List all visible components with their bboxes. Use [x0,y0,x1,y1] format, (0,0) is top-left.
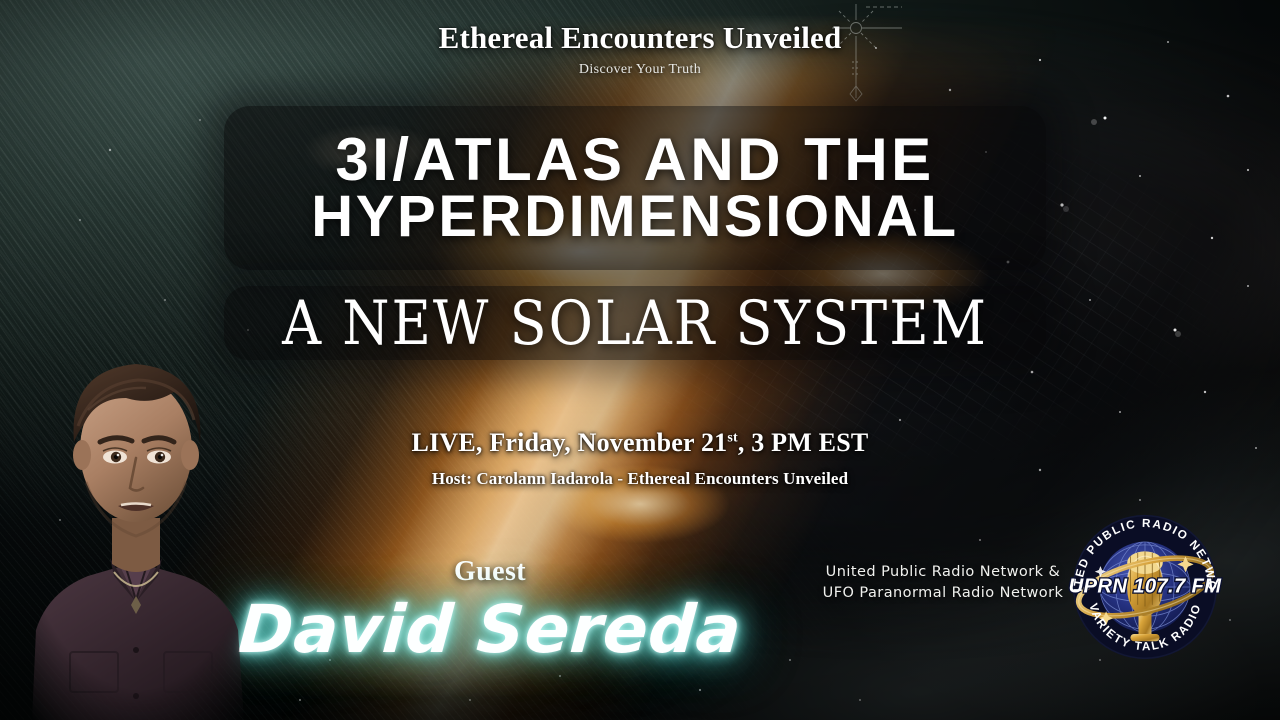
brand-header: Ethereal Encounters Unveiled Discover Yo… [0,22,1280,78]
network-credit: United Public Radio Network & UFO Parano… [812,562,1074,604]
subtitle-text: A NEW SOLAR SYSTEM [282,288,988,359]
logo-center-text: UPRN 107.7 FM [1069,576,1223,598]
live-datetime-suffix: , 3 PM EST [738,428,869,457]
guest-portrait-photo [14,300,266,720]
main-title-band: 3I/ATLAS AND THE HYPERDIMENSIONAL [224,106,1046,270]
brand-title: Ethereal Encounters Unveiled [0,22,1280,53]
network-credit-line-1: United Public Radio Network & [812,562,1074,583]
main-title-line-2: HYPERDIMENSIONAL [238,189,1032,245]
page-title: 3I/ATLAS AND THE HYPERDIMENSIONAL [224,131,1046,244]
subtitle-band: A NEW SOLAR SYSTEM [224,286,1046,360]
webinar-promo-poster: Ethereal Encounters Unveiled Discover Yo… [0,0,1280,720]
network-credit-line-2: UFO Paranormal Radio Network [812,583,1074,604]
uprn-logo: UPRN 107.7 FM UNITED PUBLIC RADIO NETWOR… [1064,506,1226,668]
live-datetime-prefix: LIVE, Friday, November 21 [412,428,728,457]
brand-tagline: Discover Your Truth [0,62,1280,78]
sparkle-star-icon [826,2,906,102]
guest-block: Guest David Sereda [170,556,810,665]
guest-label: Guest [170,556,810,588]
live-datetime-ordinal: st [727,430,738,445]
